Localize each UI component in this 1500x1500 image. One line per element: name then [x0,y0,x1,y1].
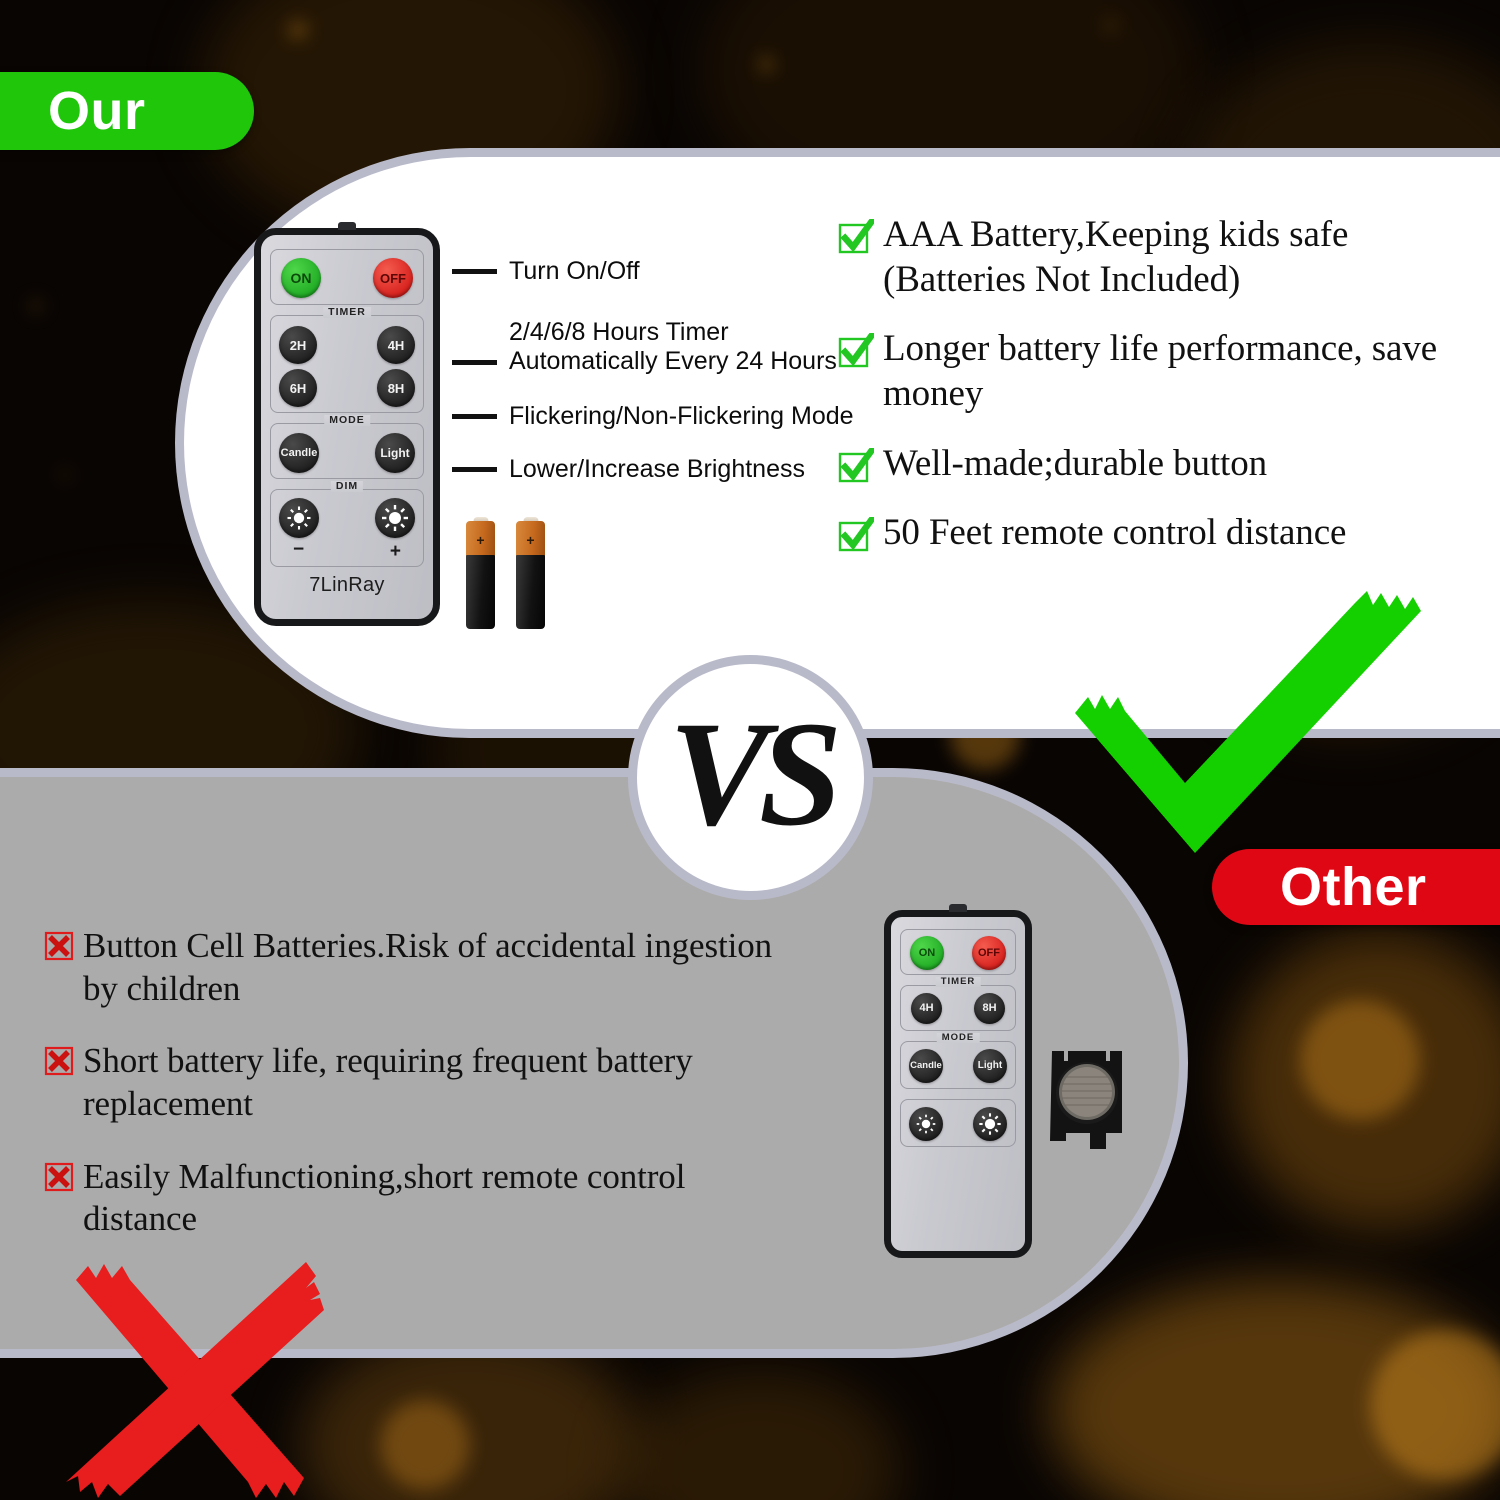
dim-up-button[interactable] [375,498,415,538]
dim-down-button[interactable] [279,498,319,538]
vs-label: VS [669,699,832,849]
off-button[interactable]: OFF [972,936,1006,970]
callout-leader-line [452,467,497,472]
callout-leader-line [452,414,497,419]
callout-leader-line [452,269,497,274]
green-check-icon [838,333,874,369]
callout-leader-line [452,360,497,365]
callout-text: Flickering/Non-Flickering Mode [509,402,854,431]
timer-button-group: TIMER 2H 4H 6H 8H [270,315,424,413]
ir-emitter-nub [949,904,967,912]
list-item-text: 50 Feet remote control distance [883,510,1346,555]
on-button-label: ON [291,271,312,285]
mode-button-group: MODE Candle Light [900,1041,1016,1089]
callout-dim: Lower/Increase Brightness [452,455,805,484]
dim-button-group [900,1099,1016,1147]
battery-body [466,555,495,629]
power-button-group: ON OFF [270,249,424,305]
callout-text: 2/4/6/8 Hours Timer Automatically Every … [509,318,837,376]
dim-group-label: DIM [331,481,363,492]
off-button[interactable]: OFF [373,258,413,298]
dim-down-button[interactable] [909,1107,943,1141]
list-item: Short battery life, requiring frequent b… [44,1040,804,1125]
list-item: Easily Malfunctioning,short remote contr… [44,1156,804,1241]
our-remote-control: ON OFF TIMER 2H 4H 6H 8H MODE Candle Lig… [254,228,440,626]
battery-body [516,555,545,629]
list-item-text: Button Cell Batteries.Risk of accidental… [83,925,804,1010]
timer-8h-button[interactable]: 8H [377,369,415,407]
mode-light-button[interactable]: Light [375,433,415,473]
mode-group-label: MODE [324,415,370,426]
list-item-text: AAA Battery,Keeping kids safe (Batteries… [883,212,1498,302]
timer-button-group: TIMER 4H 8H [900,985,1016,1031]
button-cell-battery [1044,1037,1130,1157]
remote-brand-label: 7LinRay [261,574,433,597]
mode-button-group: MODE Candle Light [270,423,424,479]
brightness-high-icon [978,1112,1002,1136]
other-remote-control: ON OFF TIMER 4H 8H MODE Candle Light [884,910,1032,1258]
dim-minus-label: − [293,540,304,559]
our-badge-label: Our [48,80,146,142]
list-item-text: Easily Malfunctioning,short remote contr… [83,1156,804,1241]
mode-candle-button[interactable]: Candle [279,433,319,473]
list-item-text: Longer battery life performance, save mo… [883,326,1498,416]
green-check-icon [838,219,874,255]
battery-plus-label: + [466,533,495,547]
off-button-label: OFF [380,272,406,285]
timer-4h-button[interactable]: 4H [911,993,942,1024]
red-x-icon [44,1046,74,1076]
big-green-check-icon [1055,585,1445,855]
vs-badge: VS [628,655,873,900]
cons-list: Button Cell Batteries.Risk of accidental… [44,925,804,1271]
list-item: Longer battery life performance, save mo… [838,326,1498,416]
mode-candle-button[interactable]: Candle [909,1049,943,1083]
timer-8h-button[interactable]: 8H [974,993,1005,1024]
list-item: Well-made;durable button [838,441,1498,486]
list-item: 50 Feet remote control distance [838,510,1498,555]
aaa-battery-1: + [466,521,495,629]
other-badge-label: Other [1280,856,1427,918]
big-red-x-icon [58,1248,358,1500]
ir-emitter-nub [338,222,356,230]
mode-group-label: MODE [937,1033,980,1043]
brightness-high-icon [381,504,409,532]
timer-2h-button[interactable]: 2H [279,326,317,364]
callout-text: Turn On/Off [509,257,640,286]
list-item: Button Cell Batteries.Risk of accidental… [44,925,804,1010]
pros-list: AAA Battery,Keeping kids safe (Batteries… [838,212,1498,579]
dim-plus-label: + [390,542,401,561]
red-x-icon [44,931,74,961]
brightness-low-icon [286,505,312,531]
callout-timer: 2/4/6/8 Hours Timer Automatically Every … [452,318,837,376]
timer-4h-button[interactable]: 4H [377,326,415,364]
red-x-icon [44,1162,74,1192]
aaa-battery-2: + [516,521,545,629]
timer-6h-button[interactable]: 6H [279,369,317,407]
on-button[interactable]: ON [910,936,944,970]
callout-text: Lower/Increase Brightness [509,455,805,484]
list-item-text: Short battery life, requiring frequent b… [83,1040,804,1125]
other-badge: Other [1212,849,1500,925]
list-item: AAA Battery,Keeping kids safe (Batteries… [838,212,1498,302]
callout-power: Turn On/Off [452,257,640,286]
dim-button-group: DIM − [270,489,424,567]
brightness-low-icon [915,1113,937,1135]
battery-plus-label: + [516,533,545,547]
timer-group-label: TIMER [936,977,981,987]
list-item-text: Well-made;durable button [883,441,1267,486]
callout-mode: Flickering/Non-Flickering Mode [452,402,854,431]
power-button-group: ON OFF [900,929,1016,975]
dim-up-button[interactable] [973,1107,1007,1141]
mode-light-button[interactable]: Light [973,1049,1007,1083]
on-button[interactable]: ON [281,258,321,298]
our-badge: Our [0,72,254,150]
timer-group-label: TIMER [323,307,371,318]
green-check-icon [838,517,874,553]
green-check-icon [838,448,874,484]
